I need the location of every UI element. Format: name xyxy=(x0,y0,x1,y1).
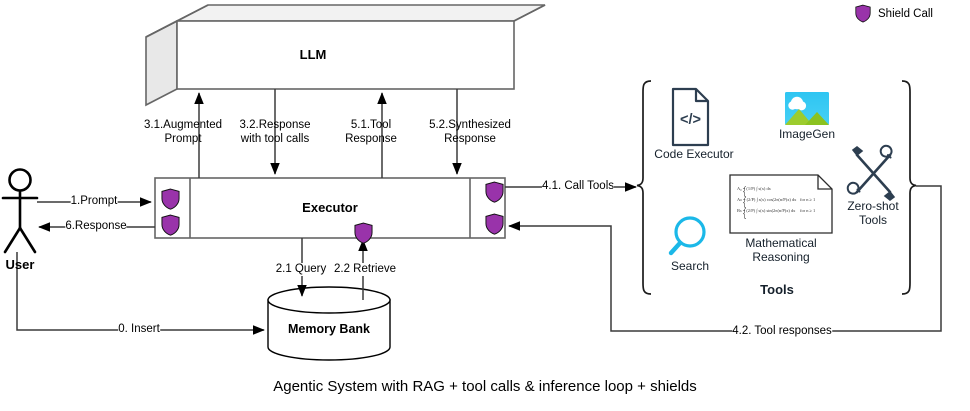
diagram-wires: </> A₀ = (1/P) ∫ s(x) dx Aₙ = (2/P) ∫ s(… xyxy=(0,0,970,411)
shield-icon-executor-in xyxy=(161,188,180,210)
tools-group-label: Tools xyxy=(760,283,794,297)
user-label: User xyxy=(6,257,35,272)
diagram-canvas: </> A₀ = (1/P) ∫ s(x) dx Aₙ = (2/P) ∫ s(… xyxy=(0,0,970,411)
edge-label-augmented-prompt-line2: Prompt xyxy=(164,133,201,146)
edge-label-insert: 0. Insert xyxy=(118,323,160,336)
memory-bank-label: Memory Bank xyxy=(288,322,370,336)
tool-caption-math-line1: Mathematical xyxy=(745,236,816,250)
math-document-icon: A₀ = (1/P) ∫ s(x) dx Aₙ = (2/P) ∫ s(x) c… xyxy=(730,175,832,233)
tool-caption-zeroshot-line2: Tools xyxy=(859,213,887,227)
edge-label-synthesized-response-line2: Response xyxy=(444,133,496,146)
edge-label-retrieve: 2.2 Retrieve xyxy=(334,263,396,276)
edge-label-query: 2.1 Query xyxy=(276,263,327,276)
llm-node[interactable] xyxy=(146,5,545,105)
shield-icon-tool-call-out xyxy=(485,181,504,203)
code-file-icon: </> xyxy=(673,89,708,145)
edge-label-response: 6.Response xyxy=(65,220,126,233)
diagram-caption: Agentic System with RAG + tool calls & i… xyxy=(0,378,970,395)
shield-icon-executor-out xyxy=(161,214,180,236)
shield-icon-memory-retrieve xyxy=(354,222,373,244)
edge-label-augmented-prompt-line1: 3.1.Augmented xyxy=(144,119,222,132)
tool-caption-zeroshot-line1: Zero-shot xyxy=(847,199,898,213)
edge-label-response-tool-calls-line2: with tool calls xyxy=(241,133,309,146)
tool-caption-code-executor: Code Executor xyxy=(654,147,733,161)
shield-icon-legend xyxy=(855,4,871,23)
edge-label-prompt: 1.Prompt xyxy=(71,195,118,208)
image-icon xyxy=(785,92,829,125)
svg-text:for n ≥ 1: for n ≥ 1 xyxy=(800,208,815,213)
edge-label-tool-response-line2: Response xyxy=(345,133,397,146)
svg-text:for n ≥ 1: for n ≥ 1 xyxy=(800,197,815,202)
edge-label-synthesized-response-line1: 5.2.Synthesized xyxy=(429,119,511,132)
legend-label: Shield Call xyxy=(878,8,933,20)
magnifier-icon xyxy=(671,218,704,253)
executor-label: Executor xyxy=(302,200,358,215)
tool-caption-math-line2: Reasoning xyxy=(752,250,809,264)
legend: Shield Call xyxy=(855,4,933,23)
user-actor[interactable] xyxy=(3,170,37,253)
llm-label: LLM xyxy=(300,47,327,62)
crossed-wrenches-icon xyxy=(848,146,894,200)
tool-caption-search: Search xyxy=(671,259,709,273)
edge-label-call-tools: 4.1. Call Tools xyxy=(542,180,614,193)
arrow-insert xyxy=(17,252,264,330)
edge-label-tool-response-line1: 5.1.Tool xyxy=(351,119,391,132)
edge-label-tool-responses: 4.2. Tool responses xyxy=(732,325,832,338)
edge-label-response-tool-calls-line1: 3.2.Response xyxy=(240,119,311,132)
shield-icon-tool-response-in xyxy=(485,213,504,235)
svg-text:</>: </> xyxy=(680,112,701,128)
tool-caption-imagegen: ImageGen xyxy=(779,127,835,141)
